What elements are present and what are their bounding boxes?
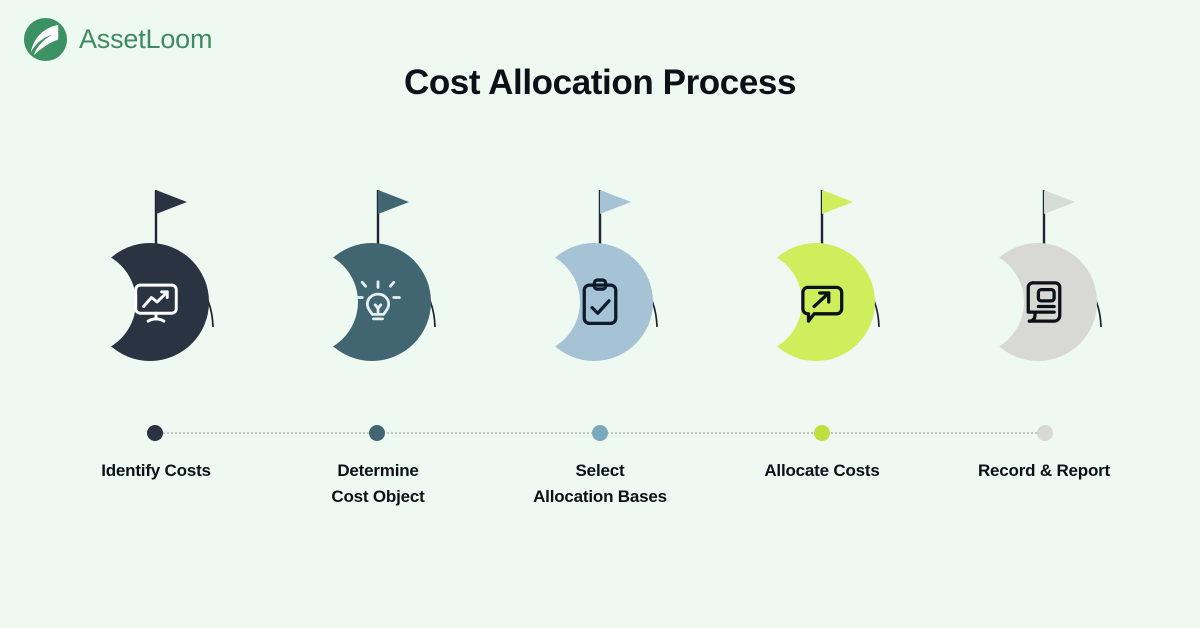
step-label-3: Select Allocation Bases [489, 458, 711, 509]
lightbulb-icon [351, 275, 405, 329]
monitor-chart-icon [129, 275, 183, 329]
step-badge-4 [722, 175, 922, 400]
step-badge-2 [278, 175, 478, 400]
step-label-4-line1: Allocate Costs [717, 458, 927, 484]
step-label-5: Record & Report [933, 458, 1155, 509]
step-label-4: Allocate Costs [711, 458, 933, 509]
clipboard-check-icon [573, 275, 627, 329]
step-label-3-line2: Allocation Bases [495, 484, 705, 510]
step-label-5-line1: Record & Report [939, 458, 1149, 484]
step-badge-3 [500, 175, 700, 400]
flag-banner-icon [822, 190, 853, 214]
step-label-2: Determine Cost Object [267, 458, 489, 509]
step-labels: Identify Costs Determine Cost Object Sel… [45, 458, 1155, 509]
flag-banner-icon [156, 190, 187, 214]
step-label-2-line2: Cost Object [273, 484, 483, 510]
timeline-dot-4[interactable] [814, 425, 830, 441]
step-label-1: Identify Costs [45, 458, 267, 509]
page-title: Cost Allocation Process [0, 63, 1200, 103]
step-badge-5 [944, 175, 1144, 400]
flag-banner-icon [1044, 190, 1075, 214]
step-label-3-line1: Select [495, 458, 705, 484]
brand-name: AssetLoom [79, 26, 212, 53]
brand-logo: AssetLoom [22, 16, 212, 63]
leaf-circle-logo-icon [22, 16, 69, 63]
step-badge-1 [56, 175, 256, 400]
timeline [0, 425, 1200, 441]
flag-banner-icon [600, 190, 631, 214]
timeline-dot-3[interactable] [592, 425, 608, 441]
step-label-2-line1: Determine [273, 458, 483, 484]
flag-banner-icon [378, 190, 409, 214]
timeline-dot-5[interactable] [1037, 425, 1053, 441]
timeline-dot-1[interactable] [147, 425, 163, 441]
report-document-icon [1017, 275, 1071, 329]
step-label-1-line1: Identify Costs [51, 458, 261, 484]
speech-bubble-arrow-icon [795, 275, 849, 329]
timeline-dot-2[interactable] [369, 425, 385, 441]
